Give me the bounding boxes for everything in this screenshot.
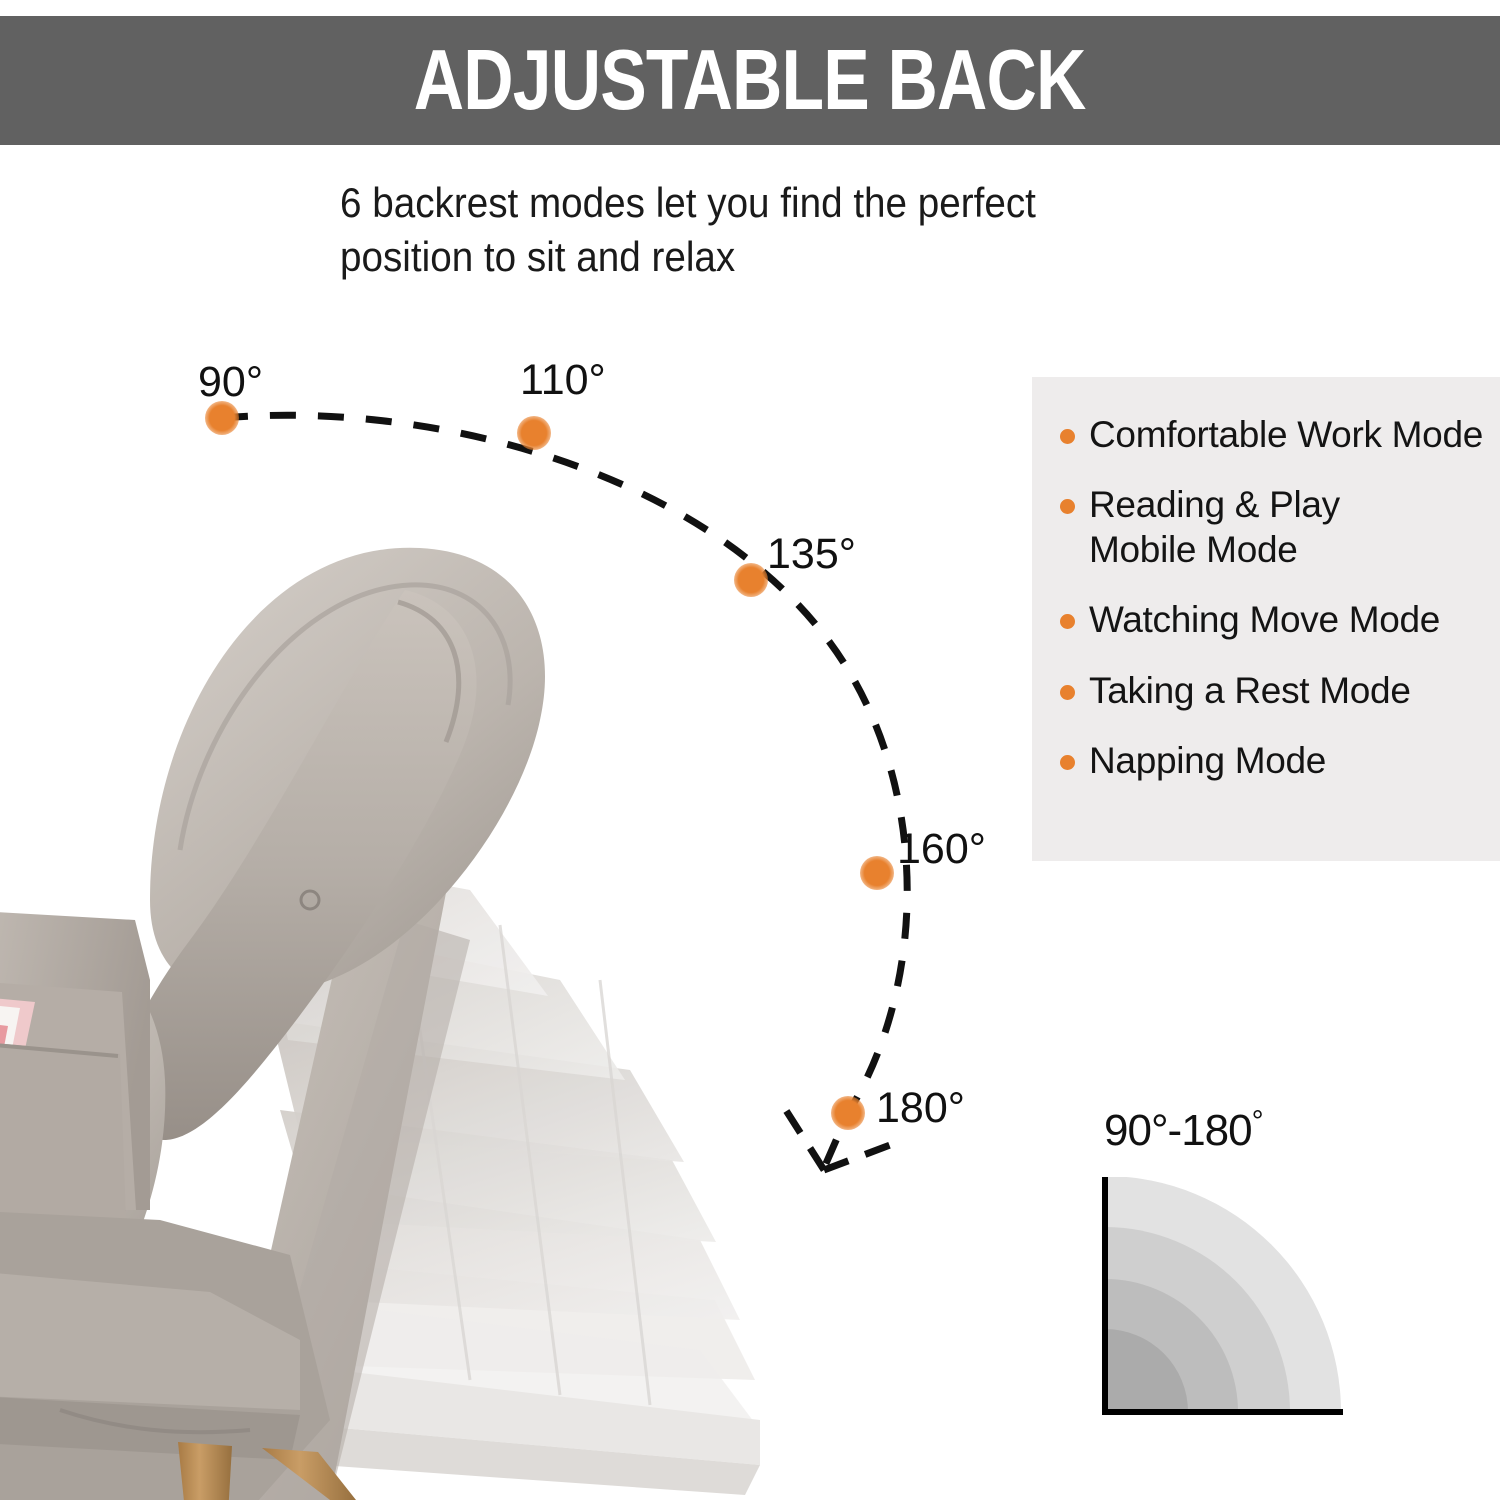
bullet-icon <box>1060 499 1075 514</box>
angle-label-110: 110° <box>520 356 606 405</box>
mode-label-line-2: Mobile Mode <box>1089 528 1340 572</box>
angle-label-160: 160° <box>897 825 986 874</box>
angle-dot-110 <box>517 416 551 450</box>
angle-dot-180 <box>831 1096 865 1130</box>
angle-dot-160 <box>860 856 894 890</box>
angle-range-label: 90°-180° <box>1104 1105 1263 1156</box>
angle-label-135: 135° <box>767 530 856 579</box>
mode-label: Watching Move Mode <box>1089 598 1440 642</box>
angle-range-label-main: 90°-180 <box>1104 1106 1252 1155</box>
subtitle-line-2: position to sit and relax <box>340 230 1131 284</box>
mode-item-comfortable-work: Comfortable Work Mode <box>1060 413 1490 457</box>
mode-label: Reading & PlayMobile Mode <box>1089 483 1340 572</box>
mode-item-reading-play-mobile: Reading & PlayMobile Mode <box>1060 483 1490 572</box>
bullet-icon <box>1060 429 1075 444</box>
mode-label: Taking a Rest Mode <box>1089 669 1411 713</box>
mode-label: Comfortable Work Mode <box>1089 413 1483 457</box>
mode-item-napping: Napping Mode <box>1060 739 1490 783</box>
angle-range-label-degree: ° <box>1252 1105 1263 1138</box>
mode-label-line-1: Reading & Play <box>1089 484 1340 525</box>
modes-panel: Comfortable Work Mode Reading & PlayMobi… <box>1032 377 1500 861</box>
bullet-icon <box>1060 755 1075 770</box>
infographic-page: ADJUSTABLE BACK 6 backrest modes let you… <box>0 0 1500 1500</box>
bullet-icon <box>1060 614 1075 629</box>
mode-item-taking-a-rest: Taking a Rest Mode <box>1060 669 1490 713</box>
angle-label-180: 180° <box>876 1084 965 1133</box>
angle-range-diagram: 90°-180° <box>1090 1105 1390 1435</box>
mode-item-watching-move: Watching Move Mode <box>1060 598 1490 642</box>
subtitle-line-1: 6 backrest modes let you find the perfec… <box>340 176 1131 230</box>
header-bar: ADJUSTABLE BACK <box>0 16 1500 145</box>
mode-label: Napping Mode <box>1089 739 1326 783</box>
bullet-icon <box>1060 685 1075 700</box>
angle-dot-135 <box>734 563 768 597</box>
angle-label-90: 90° <box>198 358 263 407</box>
subtitle: 6 backrest modes let you find the perfec… <box>340 176 1131 284</box>
page-title: ADJUSTABLE BACK <box>414 38 1086 123</box>
chair-photo <box>0 420 780 1500</box>
quarter-circle-svg <box>1090 1177 1380 1427</box>
